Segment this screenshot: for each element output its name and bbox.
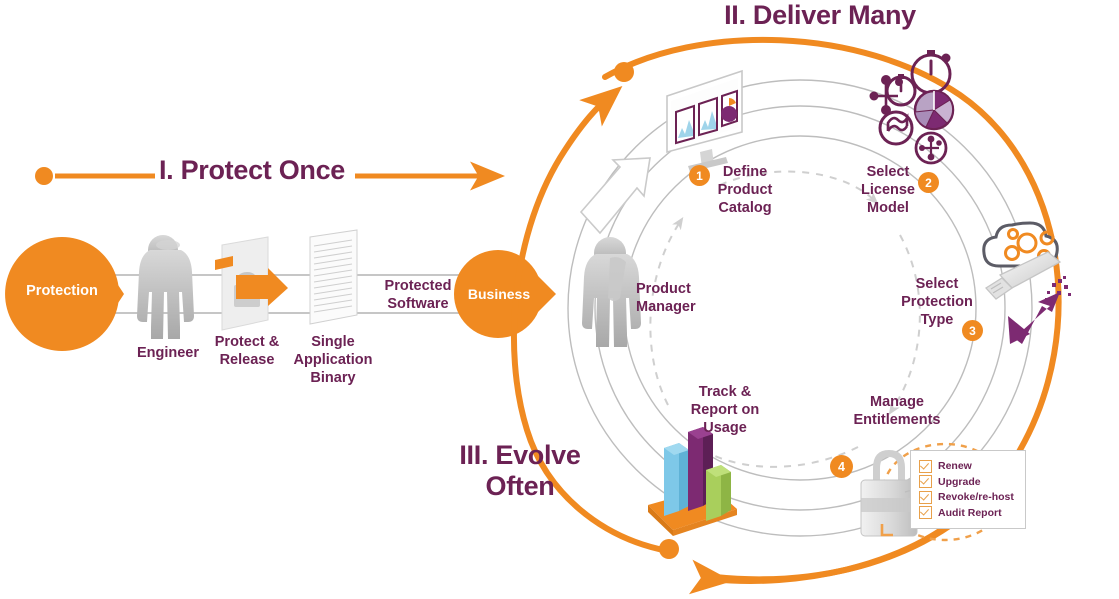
- engineer-person-icon: [137, 235, 194, 339]
- checklist-label-renew: Renew: [938, 460, 972, 472]
- step-4-label-line1: Manage: [830, 394, 964, 411]
- entitlements-checklist[interactable]: Renew Upgrade Revoke/re-host Audit Repor…: [910, 450, 1026, 529]
- bar-chart-icon: [648, 427, 737, 536]
- diagram-canvas: I. Protect Once II. Deliver Many III. Ev…: [0, 0, 1119, 599]
- step-3-label-line1: Select: [885, 276, 989, 293]
- phase-three-title-line2: Often: [440, 471, 600, 502]
- lock-shield-arrow-icon: [215, 237, 288, 330]
- step-2-label-line2: License: [840, 182, 936, 199]
- checkbox-icon[interactable]: [919, 506, 932, 519]
- protected-software-label-line2: Software: [362, 296, 474, 313]
- checklist-row-upgrade[interactable]: Upgrade: [919, 475, 1015, 488]
- step-3-label-line3: Type: [885, 312, 989, 329]
- phase-two-title: II. Deliver Many: [690, 0, 950, 31]
- checklist-label-upgrade: Upgrade: [938, 476, 981, 488]
- track-report-label-line2: Report on: [666, 402, 784, 419]
- protection-node-label: Protection: [10, 283, 114, 299]
- step-3-label-line2: Protection: [885, 294, 989, 311]
- single-app-binary-label-line3: Binary: [278, 370, 388, 387]
- padlock-icon: [861, 450, 917, 536]
- phase-three-title-line1: III. Evolve: [440, 440, 600, 471]
- step-4-label-line2: Entitlements: [830, 412, 964, 429]
- single-app-binary-label-line2: Application: [278, 352, 388, 369]
- checklist-label-revoke: Revoke/re-host: [938, 491, 1014, 503]
- step-4-badge[interactable]: 4: [830, 455, 853, 478]
- step-2-label-line1: Select: [840, 164, 936, 181]
- product-manager-label-line2: Manager: [636, 299, 728, 316]
- document-binary-icon: [310, 230, 357, 324]
- checkbox-icon[interactable]: [919, 475, 932, 488]
- track-report-label-line3: Usage: [666, 420, 784, 437]
- checklist-row-revoke[interactable]: Revoke/re-host: [919, 491, 1015, 504]
- phase-one-title: I. Protect Once: [152, 155, 352, 186]
- single-app-binary-label-line1: Single: [278, 334, 388, 351]
- checkbox-icon[interactable]: [919, 491, 932, 504]
- step-2-label-line3: Model: [840, 200, 936, 217]
- checklist-row-audit[interactable]: Audit Report: [919, 506, 1015, 519]
- product-manager-label-line1: Product: [636, 281, 728, 298]
- step-1-label-line1: Define: [696, 164, 794, 181]
- checklist-row-renew[interactable]: Renew: [919, 460, 1015, 473]
- step-1-label-line2: Product: [696, 182, 794, 199]
- checkbox-icon[interactable]: [919, 460, 932, 473]
- track-report-label-line1: Track &: [666, 384, 784, 401]
- protected-software-label-line1: Protected: [362, 278, 474, 295]
- step-1-label-line3: Catalog: [696, 200, 794, 217]
- checklist-label-audit: Audit Report: [938, 507, 1002, 519]
- person-icon: [582, 237, 641, 347]
- cycle-start-dot: [614, 62, 634, 82]
- cycle-evolve-dot: [659, 539, 679, 559]
